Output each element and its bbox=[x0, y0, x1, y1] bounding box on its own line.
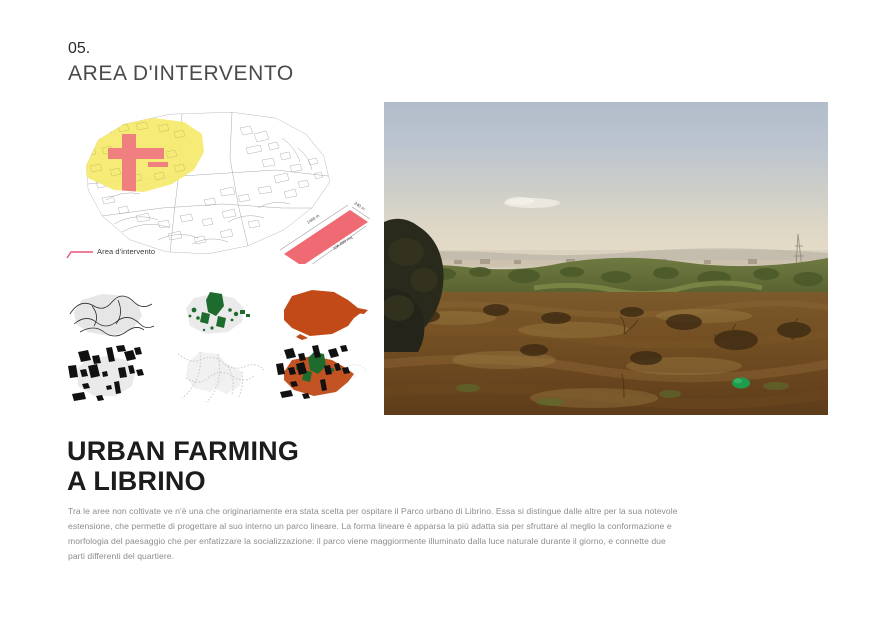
main-heading: URBAN FARMING A LIBRINO bbox=[67, 436, 567, 496]
legend-line-icon bbox=[66, 246, 94, 256]
composite-overlay-diagram bbox=[270, 344, 374, 406]
body-paragraph: Tra le aree non coltivate ve n'è una che… bbox=[68, 504, 680, 564]
buildings-diagram bbox=[62, 344, 166, 406]
green-litter bbox=[732, 378, 750, 389]
site-location-map: 1400 m 240 m 336.000 mq bbox=[62, 104, 380, 264]
dimension-label-width: 240 m bbox=[353, 201, 366, 212]
paths-diagram bbox=[166, 344, 270, 406]
main-heading-line-1: URBAN FARMING bbox=[67, 436, 567, 466]
site-photograph bbox=[384, 102, 828, 415]
contours-diagram bbox=[62, 286, 166, 344]
main-heading-line-2: A LIBRINO bbox=[67, 466, 567, 496]
legend-label: Area d'intervento bbox=[97, 247, 155, 256]
page-header: 05. AREA D'INTERVENTO bbox=[68, 40, 468, 87]
analysis-diagram-grid bbox=[62, 286, 374, 406]
green-areas-diagram bbox=[166, 286, 270, 344]
dimension-label-length: 1400 m bbox=[306, 213, 321, 225]
page-title: AREA D'INTERVENTO bbox=[68, 60, 468, 87]
section-number: 05. bbox=[68, 40, 468, 58]
intervention-area-diagram bbox=[270, 286, 374, 344]
map-legend: Area d'intervento bbox=[66, 246, 155, 256]
